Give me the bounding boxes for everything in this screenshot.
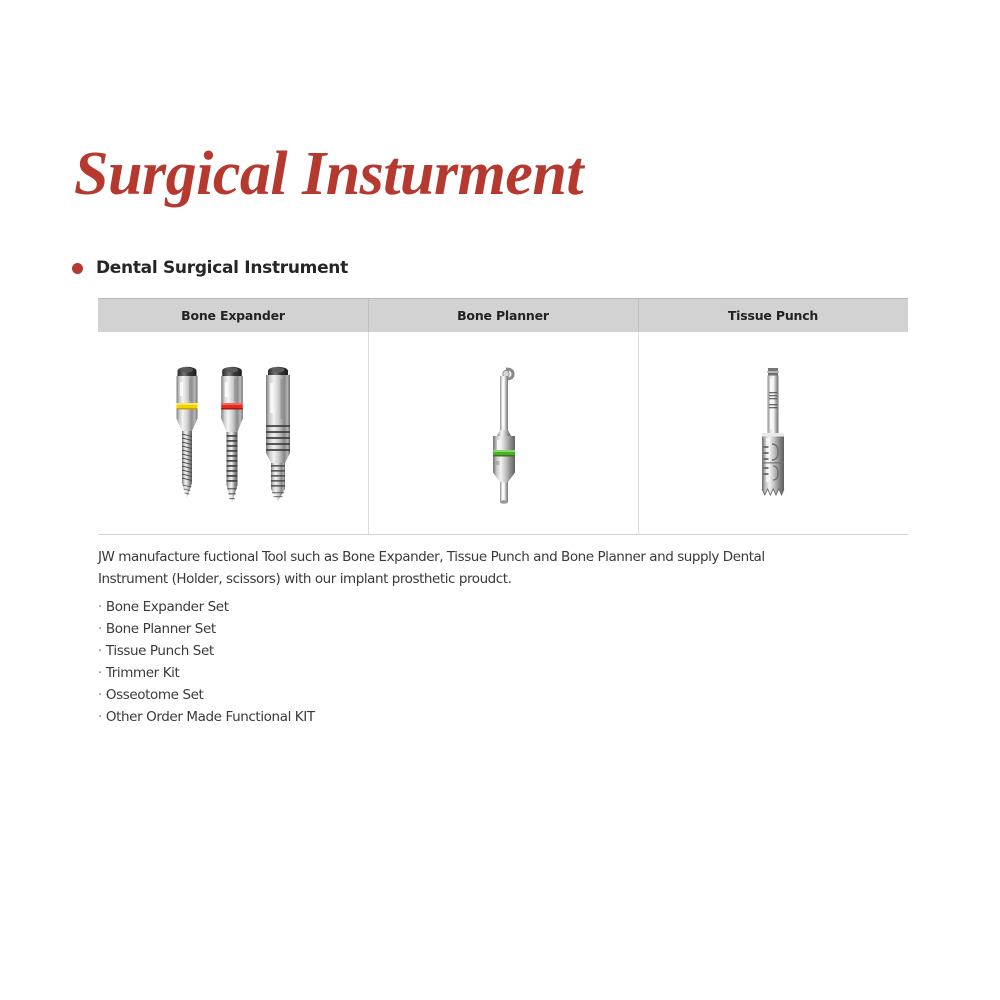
- list-item: ·Osseotome Set: [98, 684, 315, 706]
- list-item-label: Bone Expander Set: [106, 599, 229, 615]
- bone-expander-red-image: [215, 365, 249, 507]
- section-heading-label: Dental Surgical Instrument: [96, 258, 348, 278]
- section-heading: Dental Surgical Instrument: [72, 258, 348, 278]
- list-item: ·Bone Planner Set: [98, 618, 315, 640]
- table-header-row: Bone Expander Bone Planner Tissue Punch: [98, 298, 908, 332]
- list-marker: ·: [98, 621, 102, 637]
- list-marker: ·: [98, 687, 102, 703]
- bone-planner-group: [480, 366, 526, 506]
- list-marker: ·: [98, 709, 102, 725]
- list-item-label: Osseotome Set: [106, 687, 204, 703]
- page-title: Surgical Insturment: [74, 143, 583, 205]
- description-paragraph: JW manufacture fuctional Tool such as Bo…: [98, 546, 798, 590]
- list-item: ·Tissue Punch Set: [98, 640, 315, 662]
- list-item-label: Other Order Made Functional KIT: [106, 709, 315, 725]
- list-item-label: Tissue Punch Set: [106, 643, 214, 659]
- table-header-bone-expander: Bone Expander: [98, 299, 368, 332]
- tissue-punch-group: [754, 366, 792, 506]
- table-header-label: Bone Planner: [457, 308, 549, 323]
- table-header-bone-planner: Bone Planner: [368, 299, 638, 332]
- list-item: ·Bone Expander Set: [98, 596, 315, 618]
- list-marker: ·: [98, 643, 102, 659]
- table-header-label: Bone Expander: [181, 308, 285, 323]
- table-body-row: [98, 332, 908, 535]
- list-item: ·Other Order Made Functional KIT: [98, 706, 315, 728]
- list-marker: ·: [98, 599, 102, 615]
- bone-expander-yellow-image: [170, 365, 204, 501]
- table-header-label: Tissue Punch: [728, 308, 818, 323]
- bone-planner-green-image: [480, 366, 526, 506]
- cell-bone-planner: [368, 332, 638, 534]
- list-item: ·Trimmer Kit: [98, 662, 315, 684]
- bullet-dot-icon: [72, 263, 83, 274]
- feature-list: ·Bone Expander Set ·Bone Planner Set ·Ti…: [98, 596, 315, 728]
- bone-expander-plain-image: [260, 365, 296, 503]
- tissue-punch-image: [754, 366, 792, 506]
- table-header-tissue-punch: Tissue Punch: [638, 299, 908, 332]
- product-table: Bone Expander Bone Planner Tissue Punch: [98, 298, 908, 535]
- cell-bone-expander: [98, 332, 368, 534]
- bone-expander-group: [170, 365, 296, 507]
- list-marker: ·: [98, 665, 102, 681]
- list-item-label: Bone Planner Set: [106, 621, 216, 637]
- cell-tissue-punch: [638, 332, 908, 534]
- list-item-label: Trimmer Kit: [106, 665, 180, 681]
